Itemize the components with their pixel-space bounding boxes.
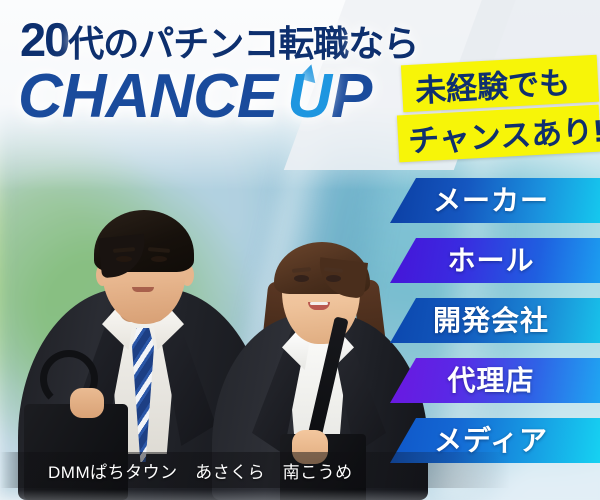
headline-suffix: なら [348,23,418,64]
badge-no-experience-label: 未経験でも [414,57,571,110]
advertisement-banner[interactable]: 20代のパチンコ転職なら CHANCEUP 未経験でも チャンスあり! メーカー… [0,0,600,500]
category-label-maker: メーカー [433,187,549,215]
badge-chance-available-label: チャンスあり! [407,105,600,161]
category-button-maker[interactable]: メーカー [390,178,600,223]
category-button-development-company[interactable]: 開発会社 [390,298,600,343]
category-button-agency[interactable]: 代理店 [390,358,600,403]
credit-bar: DMMぱちタウン あさくら 南こうめ [0,452,600,488]
people-group [0,160,430,500]
logo-up-group: UP [287,66,371,128]
logo-u-letter: U [287,62,331,131]
category-label-media: メディア [434,427,548,455]
headline-number: 20 [20,13,68,66]
category-button-hall[interactable]: ホール [390,238,600,283]
logo-chance-up: CHANCEUP [18,66,371,128]
category-label-hall: ホール [447,247,534,275]
logo-p-letter: P [331,62,371,131]
category-label-development-company: 開発会社 [433,307,549,335]
credit-text: DMMぱちタウン あさくら 南こうめ [0,458,353,483]
logo-chance-text: CHANCE [18,62,277,131]
headline-rest: 代のパチンコ転職 [68,23,348,64]
category-list: メーカー ホール 開発会社 代理店 メディア [390,178,600,478]
headline: 20代のパチンコ転職なら [20,16,418,63]
category-label-agency: 代理店 [447,367,534,395]
